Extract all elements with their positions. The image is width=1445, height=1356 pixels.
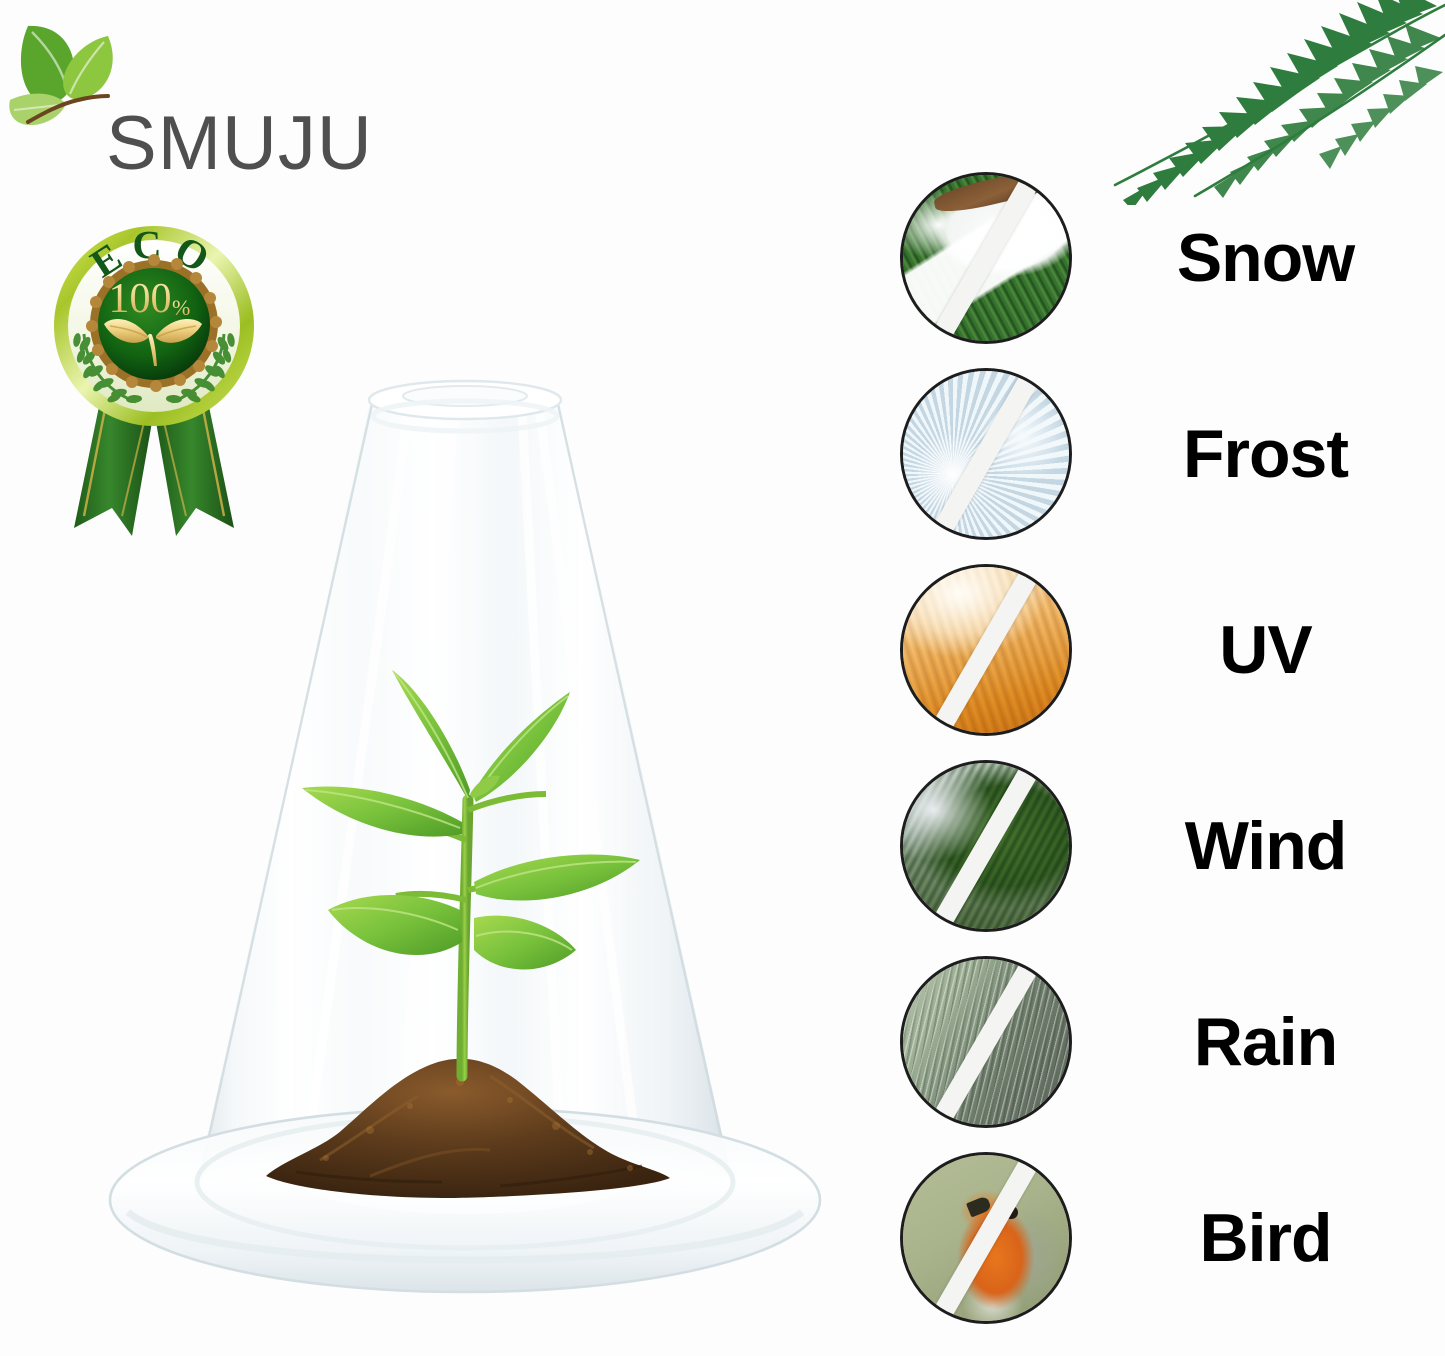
eco-badge-unit: % <box>172 295 190 320</box>
product-image <box>70 370 860 1330</box>
feature-row: Snow <box>900 170 1445 345</box>
uv-sunlight-icon <box>900 564 1072 736</box>
robin-bird-icon <box>900 1152 1072 1324</box>
snow-on-pine-icon <box>900 172 1072 344</box>
feature-label-uv: UV <box>1072 616 1445 684</box>
heavy-rain-icon <box>900 956 1072 1128</box>
product-infographic-page: SMUJU <box>0 0 1445 1356</box>
feature-row: Wind <box>900 758 1445 933</box>
feature-label-frost: Frost <box>1072 420 1445 488</box>
feature-row: Rain <box>900 954 1445 1129</box>
feature-row: UV <box>900 562 1445 737</box>
eco-badge-value: 100 <box>109 276 172 322</box>
brand-logo: SMUJU <box>8 18 368 178</box>
wind-bent-palms-icon <box>900 760 1072 932</box>
feature-row: Frost <box>900 366 1445 541</box>
protection-feature-list: Snow Frost UV Wind <box>900 170 1445 1356</box>
feature-label-rain: Rain <box>1072 1008 1445 1076</box>
feature-row: Bird <box>900 1150 1445 1325</box>
frost-on-needles-icon <box>900 368 1072 540</box>
feature-label-wind: Wind <box>1072 812 1445 880</box>
feature-label-bird: Bird <box>1072 1204 1445 1272</box>
brand-wordmark: SMUJU <box>106 106 373 182</box>
feature-label-snow: Snow <box>1072 224 1445 292</box>
